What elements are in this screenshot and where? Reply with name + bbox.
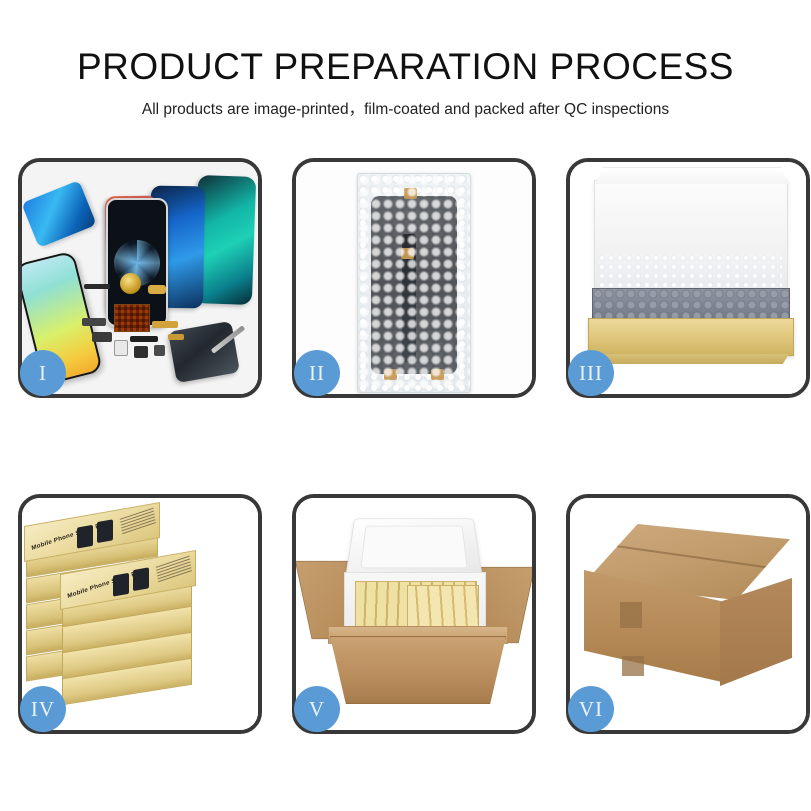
step-badge-3: III [568, 350, 614, 396]
tape-tab-icon [404, 188, 417, 199]
gold-box-base-icon [588, 318, 794, 356]
box-spec-lines [120, 508, 156, 537]
process-step-panel-5[interactable]: V [292, 494, 536, 734]
carton-body-icon [330, 636, 506, 704]
process-step-panel-6[interactable]: VI [566, 494, 810, 734]
carton-tape-icon [620, 602, 642, 628]
box-spec-lines [156, 556, 192, 585]
gold-boxes-row-icon [407, 585, 479, 631]
process-step-panel-3[interactable]: III [566, 158, 810, 398]
process-step-grid: I II [18, 158, 793, 733]
gold-contact-icon [148, 285, 166, 294]
tape-tab-icon [431, 369, 444, 380]
foam-box-lid-icon [345, 518, 483, 578]
step-badge-5: V [294, 686, 340, 732]
process-step-panel-1[interactable]: I [18, 158, 262, 398]
flex-cable-icon [152, 321, 178, 328]
box-art-screen-icon [133, 567, 149, 591]
screen-film-icon [22, 180, 97, 248]
tape-tab-icon [384, 369, 397, 380]
page-title: PRODUCT PREPARATION PROCESS [0, 0, 811, 87]
connector-part-icon [92, 332, 112, 342]
carton-tape-icon [622, 656, 644, 676]
phone-back-housing-icon [168, 321, 240, 383]
antenna-part-icon [168, 334, 184, 340]
step-badge-4: IV [20, 686, 66, 732]
page-subtitle: All products are image-printed，film-coat… [0, 87, 811, 119]
box-art-screen-icon [97, 519, 113, 543]
bubble-wrap-package [357, 173, 471, 393]
product-preparation-infographic: PRODUCT PREPARATION PROCESS All products… [0, 0, 811, 811]
ribbon-cable-icon [130, 336, 158, 342]
button-part-icon [134, 346, 148, 358]
step-badge-1: I [20, 350, 66, 396]
step-badge-2: II [294, 350, 340, 396]
sim-tray-icon [114, 340, 128, 356]
vibrator-motor-icon [120, 273, 141, 294]
sensor-part-icon [154, 345, 165, 356]
process-step-panel-4[interactable]: Mobile Phone Spare Parts Mobile [18, 494, 262, 734]
speaker-part-icon [84, 284, 110, 289]
ic-chip-icon [114, 304, 150, 332]
tape-tab-icon [401, 248, 414, 259]
header: PRODUCT PREPARATION PROCESS All products… [0, 0, 811, 119]
box-art-screen-icon [113, 573, 129, 597]
camera-module-icon [82, 318, 106, 326]
process-step-panel-2[interactable]: II [292, 158, 536, 398]
step-badge-6: VI [568, 686, 614, 732]
box-art-screen-icon [77, 525, 93, 549]
